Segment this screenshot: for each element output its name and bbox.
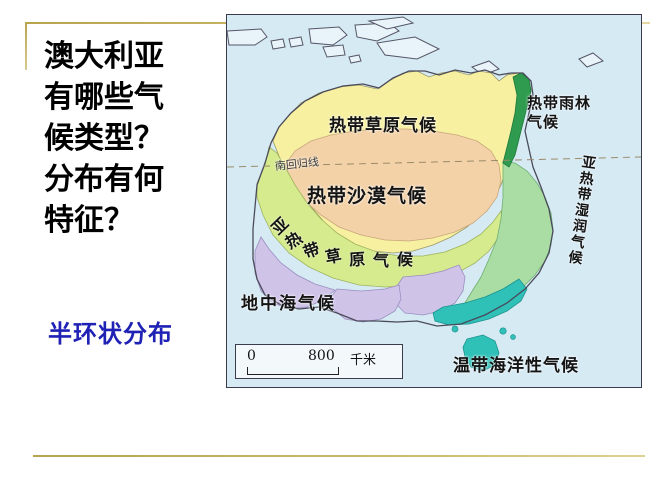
slide-canvas: 澳大利亚 有哪些气 候类型？ 分布有何 特征？ 半环状分布 [0, 0, 667, 500]
bottom-gold-rule [33, 455, 645, 457]
question-line-1: 澳大利亚 [44, 36, 219, 77]
question-line-4: 分布有何 [44, 159, 219, 200]
left-gold-rule [25, 22, 27, 70]
question-line-2: 有哪些气 [44, 77, 219, 118]
question-line-3: 候类型？ [44, 118, 219, 159]
answer-text: 半环状分布 [48, 314, 173, 349]
map-scale-bar: 0 800 千米 [235, 344, 403, 379]
australia-climate-map: 热带草原气候 热带沙漠气候 南回归线 热带雨林 气候 地中海气候 温带海洋性气候… [226, 14, 642, 388]
scale-ruler-bracket [247, 367, 339, 375]
question-text-block: 澳大利亚 有哪些气 候类型？ 分布有何 特征？ [44, 36, 219, 241]
scale-start-label: 0 [247, 348, 256, 364]
scale-labels: 0 800 千米 [245, 348, 395, 365]
map-graphic [227, 15, 641, 387]
scale-unit-label: 千米 [350, 349, 376, 368]
question-line-5: 特征？ [44, 200, 219, 241]
scale-end-label: 800 [308, 348, 335, 364]
